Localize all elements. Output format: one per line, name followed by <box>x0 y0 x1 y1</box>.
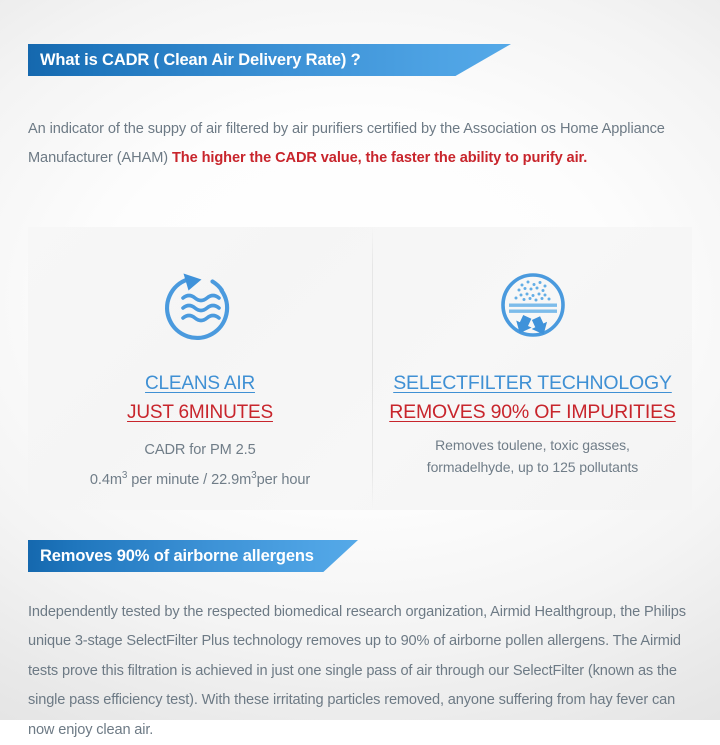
card-left-heading-red: JUST 6MINUTES <box>28 398 372 427</box>
card-right-subtext: Removes toulene, toxic gasses, formadelh… <box>373 434 692 478</box>
section-header-allergens: Removes 90% of airborne allergens <box>28 540 358 572</box>
card-left-subtext-line1: CADR for PM 2.5 <box>28 438 372 463</box>
section-header-cadr-label: What is CADR ( Clean Air Delivery Rate) … <box>40 44 361 76</box>
intro-highlight-text: The higher the CADR value, the faster th… <box>172 150 587 166</box>
card-right-subtext-line1: Removes toulene, toxic gasses, <box>373 434 692 456</box>
feature-panel: CLEANS AIR JUST 6MINUTES CADR for PM 2.5… <box>28 227 692 510</box>
card-left-headings: CLEANS AIR JUST 6MINUTES <box>28 369 372 427</box>
infographic-page: What is CADR ( Clean Air Delivery Rate) … <box>0 0 720 720</box>
select-filter-icon <box>373 263 692 347</box>
cadr-per-minute-value: 0.4m <box>90 472 122 488</box>
card-left-subtext: CADR for PM 2.5 0.4m3 per minute / 22.9m… <box>28 438 372 493</box>
cadr-mid-text: per minute / 22.9m <box>127 472 251 488</box>
cadr-per-hour-text: per hour <box>257 472 311 488</box>
card-right-heading-blue: SELECTFILTER TECHNOLOGY <box>373 369 692 398</box>
section-header-cadr: What is CADR ( Clean Air Delivery Rate) … <box>28 44 511 76</box>
intro-paragraph: An indicator of the suppy of air filtere… <box>28 115 668 173</box>
air-circulation-icon <box>28 263 372 347</box>
card-right-headings: SELECTFILTER TECHNOLOGY REMOVES 90% OF I… <box>373 369 692 427</box>
allergens-body-paragraph: Independently tested by the respected bi… <box>28 598 700 745</box>
card-left-heading-blue: CLEANS AIR <box>28 369 372 398</box>
section-header-allergens-label: Removes 90% of airborne allergens <box>40 540 314 572</box>
card-right-subtext-line2: formadelhyde, up to 125 pollutants <box>373 456 692 478</box>
feature-card-cleans-air: CLEANS AIR JUST 6MINUTES CADR for PM 2.5… <box>28 227 372 510</box>
feature-card-selectfilter: SELECTFILTER TECHNOLOGY REMOVES 90% OF I… <box>373 227 692 510</box>
card-right-heading-red: REMOVES 90% OF IMPURITIES <box>373 398 692 427</box>
card-left-subtext-line2: 0.4m3 per minute / 22.9m3per hour <box>28 463 372 493</box>
